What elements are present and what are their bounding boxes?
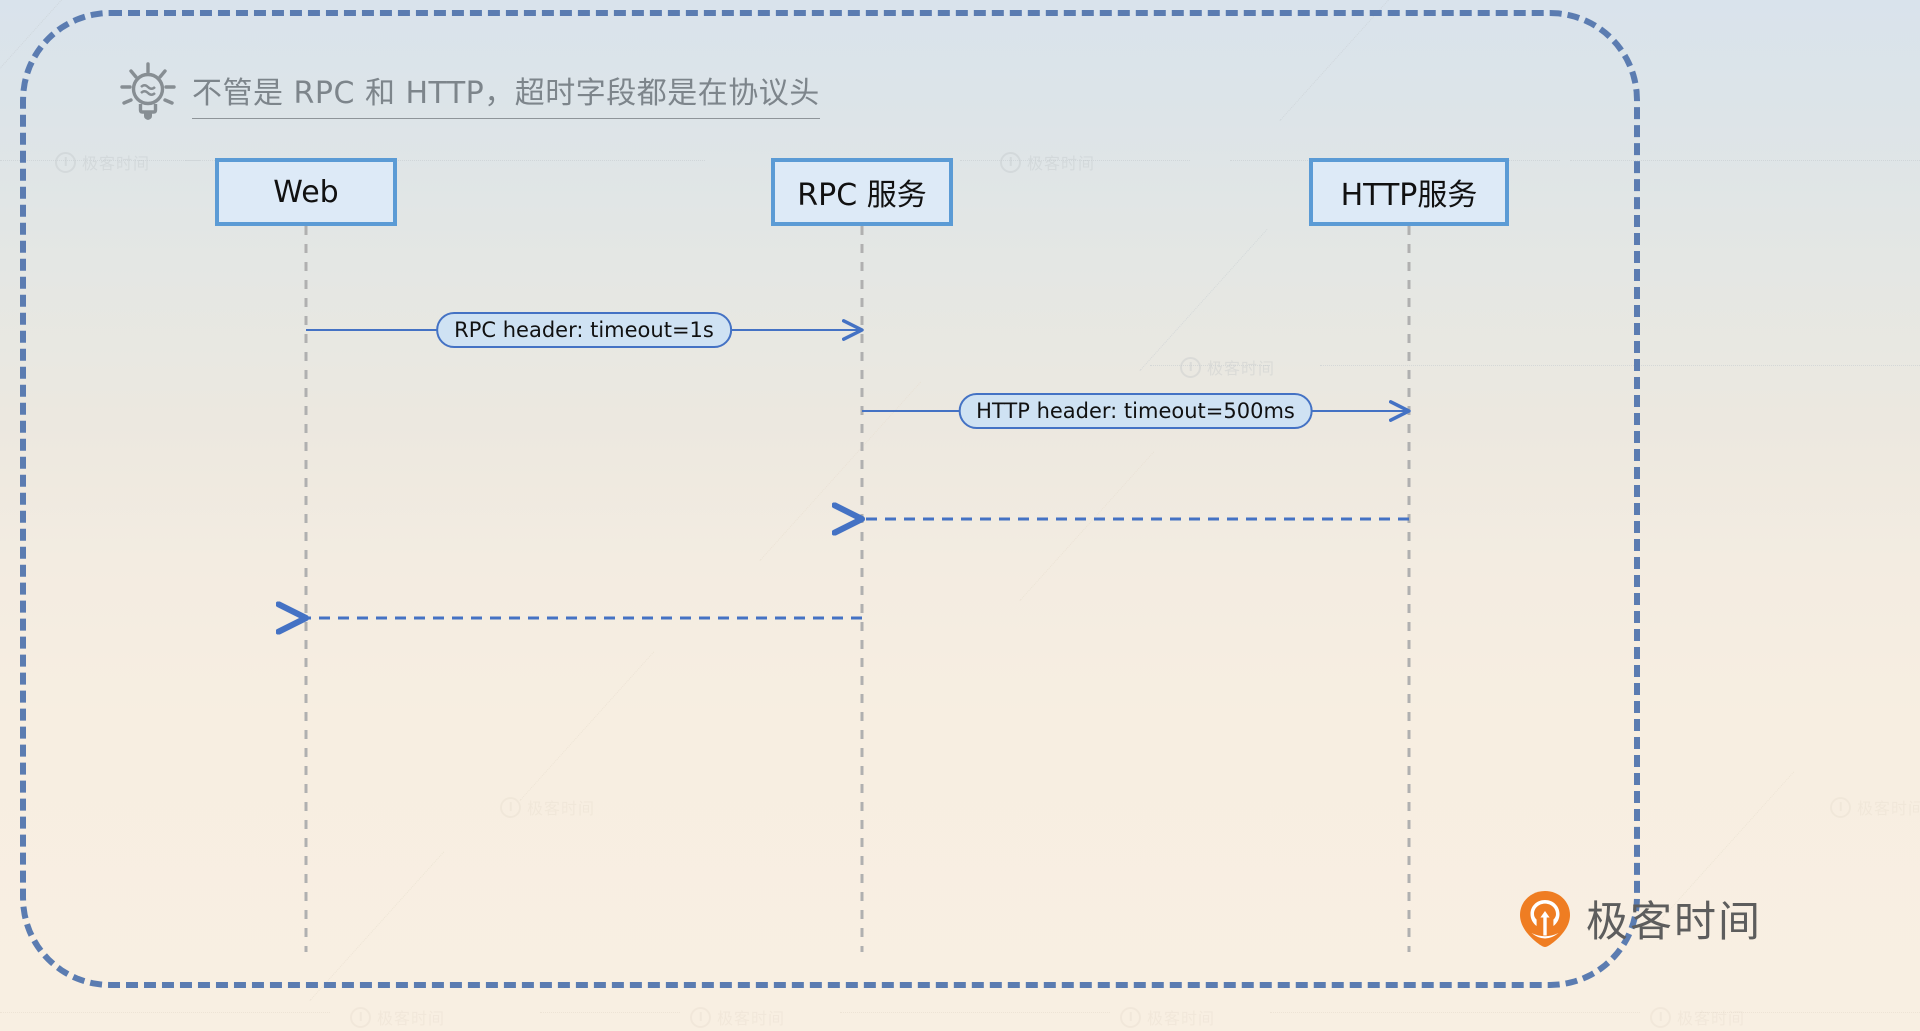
lightbulb-icon <box>118 62 178 124</box>
sequence-diagram <box>0 0 1920 1031</box>
message-label-text: RPC header: timeout=1s <box>454 318 714 342</box>
actor-label: HTTP服务 <box>1341 170 1478 214</box>
brand-name: 极客时间 <box>1586 888 1762 949</box>
brand-logo: 极客时间 <box>1518 888 1762 949</box>
message-label-text: HTTP header: timeout=500ms <box>976 399 1295 423</box>
geekbang-logo-icon <box>1518 890 1572 948</box>
actor-box-rpc[interactable]: RPC 服务 <box>771 158 953 226</box>
header: 不管是 RPC 和 HTTP，超时字段都是在协议头 <box>118 62 820 124</box>
actor-label: Web <box>273 175 338 210</box>
page-title: 不管是 RPC 和 HTTP，超时字段都是在协议头 <box>192 68 820 112</box>
slide-canvas: 极客时间极客时间极客时间极客时间极客时间极客时间极客时间极客时间极客时间 不管是… <box>0 0 1920 1031</box>
message-label-m2[interactable]: HTTP header: timeout=500ms <box>958 393 1313 429</box>
actor-box-web[interactable]: Web <box>215 158 397 226</box>
actor-label: RPC 服务 <box>797 170 926 214</box>
title-underline: 不管是 RPC 和 HTTP，超时字段都是在协议头 <box>192 68 820 119</box>
messages-group <box>306 330 1409 618</box>
actor-box-http[interactable]: HTTP服务 <box>1309 158 1509 226</box>
message-label-m1[interactable]: RPC header: timeout=1s <box>436 312 732 348</box>
